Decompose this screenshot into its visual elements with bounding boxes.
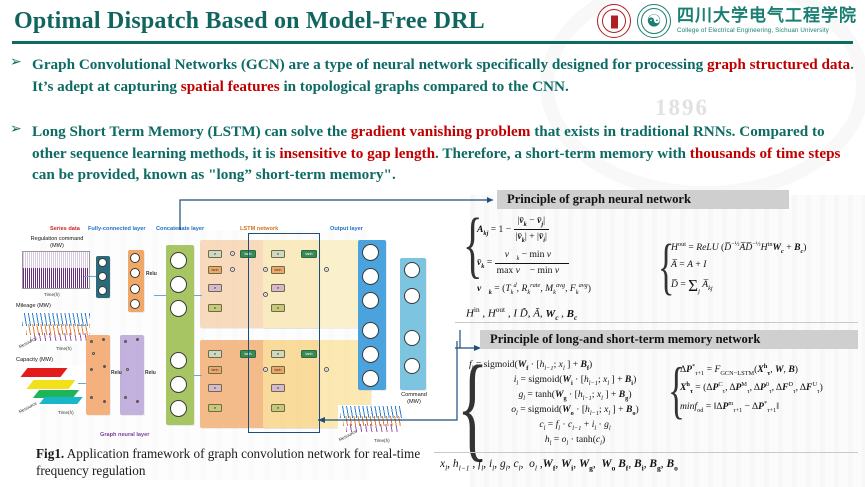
seg-highlight: graph structured data xyxy=(707,56,850,73)
seg-highlight: insensitive to gap length xyxy=(279,145,435,162)
diagram-label-output-layer: Output layer xyxy=(330,226,363,232)
lstm-gate-sigmoid: σ xyxy=(208,304,222,312)
callout-arrow-gnn xyxy=(487,197,493,203)
seg-highlight: thousands of time steps xyxy=(690,145,841,162)
connector-arrow xyxy=(194,375,202,376)
diagram-label-relu-2: Relu xyxy=(111,370,122,376)
framework-diagram: Series data Fully-connected layer Concat… xyxy=(8,200,463,450)
logo-chinese-name: 四川大学电气工程学院 xyxy=(677,8,857,26)
connector-arrow xyxy=(84,276,96,277)
seg-highlight: gradient vanishing problem xyxy=(351,123,530,140)
diagram-label-series-data: Series data xyxy=(50,226,80,232)
seg: Long Short Term Memory (LSTM) can solve … xyxy=(32,123,351,140)
watermark-year: 1896 xyxy=(655,95,709,121)
chart-title-capacity: Capacity (MW) xyxy=(16,357,88,363)
seg: Graph Convolutional Networks (GCN) are a… xyxy=(32,56,707,73)
chart-xlabel-regulation: Time(h) xyxy=(44,292,60,297)
node xyxy=(170,376,187,393)
seg: . Therefore, a short-term memory with xyxy=(435,145,690,162)
gnn-right-equations: { Hout = ReLU (D̅−½A̅D̅−½HinWc + Bc) A̅ … xyxy=(658,240,806,299)
slab-concatenate xyxy=(166,245,194,425)
equation: Hout = ReLU (D̅−½A̅D̅−½HinWc + Bc) xyxy=(671,240,806,256)
node xyxy=(362,322,379,339)
lstm-gate-tanh: tanh xyxy=(208,366,222,374)
node xyxy=(404,262,420,278)
logo-english-name: College of Electrical Engineering, Sichu… xyxy=(677,27,829,34)
equation: fl = sigmoid(Wf · [hl−1; xl ] + Bf) xyxy=(469,358,681,373)
brace-right-lstm: { xyxy=(668,358,685,422)
node xyxy=(170,400,187,417)
bar3d-red xyxy=(20,368,67,377)
node xyxy=(98,286,107,295)
electrical-engineering-seal-icon xyxy=(637,4,671,38)
seg: can be provided, known as "long” short-t… xyxy=(32,166,396,183)
brace-left-gnn: { xyxy=(463,208,483,282)
equation: Akj = 1 − |v̄k − v̄j||v̄k| + |v̄i| xyxy=(477,214,591,245)
panel-header-gnn: Principle of graph neural network xyxy=(497,190,789,209)
sichuan-university-seal-icon xyxy=(597,4,631,38)
chart-title-command: Command xyxy=(386,392,442,398)
bullet-arrow-icon: ➢ xyxy=(10,54,22,70)
brace-left-lstm: { xyxy=(457,348,488,466)
equation: v̄k = v⃗k − min v⃗max v⃗ − min v⃗ xyxy=(477,248,591,278)
chart-unit-regulation-command: (MW) xyxy=(18,243,96,249)
university-logo-group: 四川大学电气工程学院 College of Electrical Enginee… xyxy=(597,4,857,38)
chart-regulation-command xyxy=(22,251,90,289)
figure-caption-label: Fig1. xyxy=(36,446,64,461)
chart-xlabel-mileage: Time(h) xyxy=(56,346,72,351)
chart-xlabel-command: Time(h) xyxy=(374,438,390,443)
equation: cl = fl · cl−1 + il · gl xyxy=(469,418,681,433)
page-title: Optimal Dispatch Based on Model-Free DRL xyxy=(14,8,485,35)
node xyxy=(404,288,420,304)
bullet-lstm-text: Long Short Term Memory (LSTM) can solve … xyxy=(32,121,858,186)
equation: minfod = ‖ΔPmτ+1 − ΔP*τ+1‖ xyxy=(680,399,823,415)
lstm-highlight-box[interactable] xyxy=(248,233,320,433)
chart-command-output xyxy=(338,405,402,435)
diagram-label-relu-3: Relu xyxy=(145,370,156,376)
node xyxy=(98,258,107,267)
node xyxy=(362,244,379,261)
diagram-label-relu-1: Relu xyxy=(146,271,157,277)
diagram-label-lstm-network: LSTM network xyxy=(240,226,278,232)
equation: il = sigmoid(Wi · [hl−1; xl ] + Bi) xyxy=(469,373,681,388)
connector-arrow xyxy=(194,295,202,296)
slab-graph-neural-2 xyxy=(120,335,144,415)
equation: gl = tanh(Wg · [hl−1; xl ] + Bg) xyxy=(469,388,681,403)
connector-arrow xyxy=(78,383,86,384)
chart-xlabel-capacity: Time(h) xyxy=(58,410,74,415)
equation: hl = ol · tanh(cl) xyxy=(469,433,681,448)
figure-caption-text: Application framework of graph convoluti… xyxy=(36,446,420,478)
seg-highlight: spatial features xyxy=(181,78,280,95)
lstm-gate-sigmoid: σ xyxy=(208,250,222,258)
node xyxy=(170,276,187,293)
brace-right-gnn: { xyxy=(658,236,674,298)
lstm-gate-tanh: tanh xyxy=(208,266,222,274)
equation: Xhτ = (ΔPCτ, ΔPMτ, ΔP0τ, ΔFDτ, ΔFUτ) xyxy=(680,380,823,396)
seg: in topological graphs compared to the CN… xyxy=(280,78,569,95)
slab-output-layer xyxy=(358,240,386,390)
equation: D̅ = Σj A̅kj xyxy=(671,274,806,299)
node xyxy=(362,292,379,309)
node xyxy=(130,299,140,309)
chart-bars xyxy=(23,252,89,288)
node xyxy=(362,268,379,285)
node xyxy=(130,268,140,278)
node xyxy=(170,252,187,269)
node xyxy=(98,272,107,281)
node xyxy=(404,358,420,374)
diagram-label-graph-neural: Graph neural layer xyxy=(100,432,149,438)
panel-divider-bottom xyxy=(434,452,858,453)
bullet-gcn-text: Graph Convolutional Networks (GCN) are a… xyxy=(32,54,858,97)
lstm-gate-sigmoid: σ xyxy=(208,350,222,358)
figure-caption: Fig1. Application framework of graph con… xyxy=(36,446,436,480)
equation: v⃗k = (Tkd, Rkrate, Mkavg, Fkavg) xyxy=(477,281,591,297)
node xyxy=(130,253,140,263)
bar3d-cyan xyxy=(39,397,82,404)
diagram-label-fully-connected: Fully-connected layer xyxy=(88,226,146,232)
lstm-left-equations: { fl = sigmoid(Wf · [hl−1; xl ] + Bf) il… xyxy=(457,358,681,449)
node xyxy=(362,370,379,387)
panel-header-lstm: Principle of long-and short-term memory … xyxy=(480,330,858,349)
node xyxy=(170,352,187,369)
chart-capacity xyxy=(22,366,92,406)
bar3d-yellow xyxy=(26,380,75,389)
diagram-label-concatenate: Concatenate layer xyxy=(156,226,204,232)
node xyxy=(130,284,140,294)
op-add: + xyxy=(324,367,329,372)
title-underline xyxy=(12,41,853,44)
op-multiply: × xyxy=(230,251,235,256)
op-add: + xyxy=(324,267,329,272)
lstm-right-equations: { ΔP*τ+1 = FGCN−LSTM(Xhτ, W, B) Xhτ = (Δ… xyxy=(668,362,823,415)
node xyxy=(170,300,187,317)
lstm-gate-sigmoid: σ xyxy=(208,284,222,292)
bullet-gcn: ➢ Graph Convolutional Networks (GCN) are… xyxy=(10,54,858,97)
chart-title-regulation-command: Regulation command xyxy=(18,236,96,242)
connector-arrow xyxy=(154,295,166,296)
op-multiply: × xyxy=(230,267,235,272)
bullet-lstm: ➢ Long Short Term Memory (LSTM) can solv… xyxy=(10,121,858,186)
equation: A̅ = A + I xyxy=(671,258,806,272)
equation: ΔP*τ+1 = FGCN−LSTM(Xhτ, W, B) xyxy=(680,362,823,378)
lstm-gate-sigmoid: σ xyxy=(208,384,222,392)
bullet-arrow-icon: ➢ xyxy=(10,121,22,137)
slab-graph-neural-1 xyxy=(86,335,110,415)
lstm-gate-sigmoid: σ xyxy=(208,404,222,412)
gnn-left-equations: { Akj = 1 − |v̄k − v̄j||v̄k| + |v̄i| v̄k… xyxy=(463,214,591,297)
connector-arrow xyxy=(78,325,86,326)
node xyxy=(404,330,420,346)
gnn-variable-list: Hin , Hout , I D̃, Ā, Wc , Bc xyxy=(466,305,577,323)
lstm-variable-list: xl, hl−1 , fl, il, gl, cl, ol ,Wf, Wi, W… xyxy=(440,458,678,472)
node xyxy=(362,346,379,363)
panel-divider xyxy=(455,322,858,323)
equation: ol = sigmoid(Wo · [hl−1; xl ] + Bo) xyxy=(469,403,681,418)
chart-lines xyxy=(338,405,402,435)
chart-title-mileage: Mileage (MW) xyxy=(16,303,88,309)
